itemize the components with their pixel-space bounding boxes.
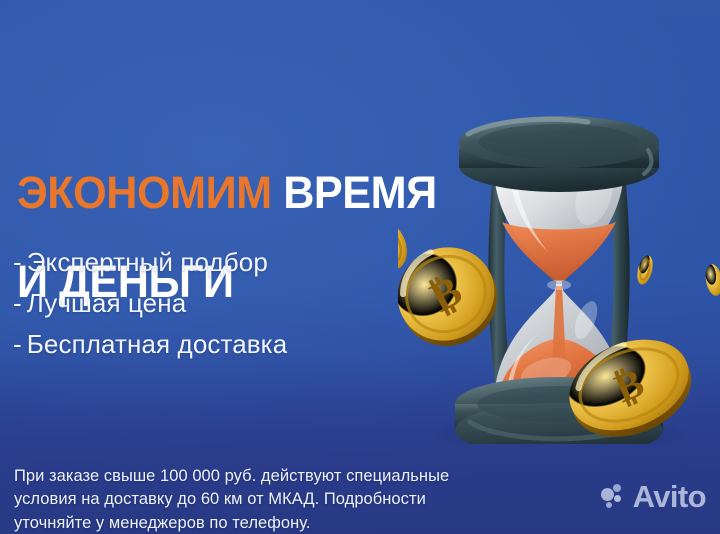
- list-item: -Экспертный подбор: [13, 249, 287, 275]
- fineprint-line-1: При заказе свыше 100 000 руб. действуют …: [14, 465, 484, 489]
- bullet-dash: -: [13, 247, 22, 277]
- fineprint-line-3: уточняйте у менеджеров по телефону.: [14, 512, 484, 534]
- avito-watermark: Avito: [601, 481, 706, 512]
- headline-rest-word: ВРЕМЯ: [272, 167, 437, 218]
- fineprint-line-2: условия на доставку до 60 км от МКАД. По…: [14, 488, 484, 512]
- bullet-label: Бесплатная доставка: [27, 329, 288, 359]
- bullet-dash: -: [13, 329, 22, 359]
- avito-dots-logo-icon: [601, 484, 627, 510]
- headline-accent-word: ЭКОНОМИМ: [17, 167, 272, 218]
- promo-banner: ₿: [0, 0, 720, 534]
- avito-wordmark: Avito: [633, 481, 706, 512]
- list-item: -Бесплатная доставка: [13, 331, 287, 357]
- headline-line-1: ЭКОНОМИМ ВРЕМЯ: [17, 127, 535, 216]
- bullet-label: Экспертный подбор: [27, 247, 268, 277]
- bullet-dash: -: [13, 288, 22, 318]
- bullet-label: Лучшая цена: [27, 288, 187, 318]
- list-item: -Лучшая цена: [13, 290, 287, 316]
- fineprint-disclaimer: При заказе свыше 100 000 руб. действуют …: [14, 465, 484, 534]
- feature-list: -Экспертный подбор -Лучшая цена -Бесплат…: [13, 249, 287, 357]
